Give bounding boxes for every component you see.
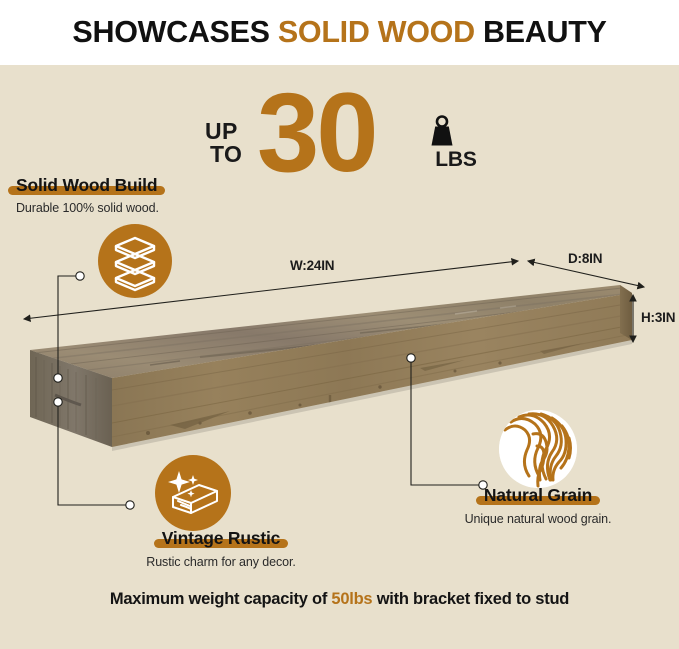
wood-plank-sparkle-icon: [155, 455, 231, 531]
feature-title: Natural Grain: [484, 485, 592, 505]
feature-subtitle: Rustic charm for any decor.: [121, 555, 321, 570]
infographic-body: UP TO 30 LBS: [0, 65, 679, 649]
footer-text-part1: Maximum weight capacity of: [110, 590, 332, 608]
header-band: SHOWCASES SOLID WOOD BEAUTY: [0, 0, 679, 65]
feature-natural-grain: Natural Grain Unique natural wood grain.: [438, 485, 638, 527]
page-title-accent: SOLID WOOD: [278, 15, 475, 49]
feature-solid-wood-build: Solid Wood Build Durable 100% solid wood…: [8, 175, 198, 216]
feature-title-highlight: Vintage Rustic: [154, 528, 288, 549]
footer-text-part2: with bracket fixed to stud: [372, 590, 569, 608]
page-title-part2: BEAUTY: [475, 15, 607, 49]
feature-title: Vintage Rustic: [162, 528, 280, 548]
infographic-page: SHOWCASES SOLID WOOD BEAUTY UP TO 30 LBS: [0, 0, 679, 649]
footer-note: Maximum weight capacity of 50lbs with br…: [0, 590, 679, 609]
wood-grain-icon: [499, 410, 577, 488]
feature-title: Solid Wood Build: [16, 175, 157, 195]
callout-connectors: [0, 65, 679, 649]
feature-title-highlight: Natural Grain: [476, 485, 600, 506]
feature-title-highlight: Solid Wood Build: [8, 175, 165, 196]
feature-vintage-rustic: Vintage Rustic Rustic charm for any deco…: [121, 528, 321, 570]
page-title-part1: SHOWCASES: [72, 15, 277, 49]
stacked-planks-icon: [98, 224, 172, 298]
feature-subtitle: Unique natural wood grain.: [438, 512, 638, 527]
feature-subtitle: Durable 100% solid wood.: [16, 201, 198, 216]
page-title: SHOWCASES SOLID WOOD BEAUTY: [72, 17, 606, 48]
footer-accent-value: 50lbs: [331, 590, 372, 608]
